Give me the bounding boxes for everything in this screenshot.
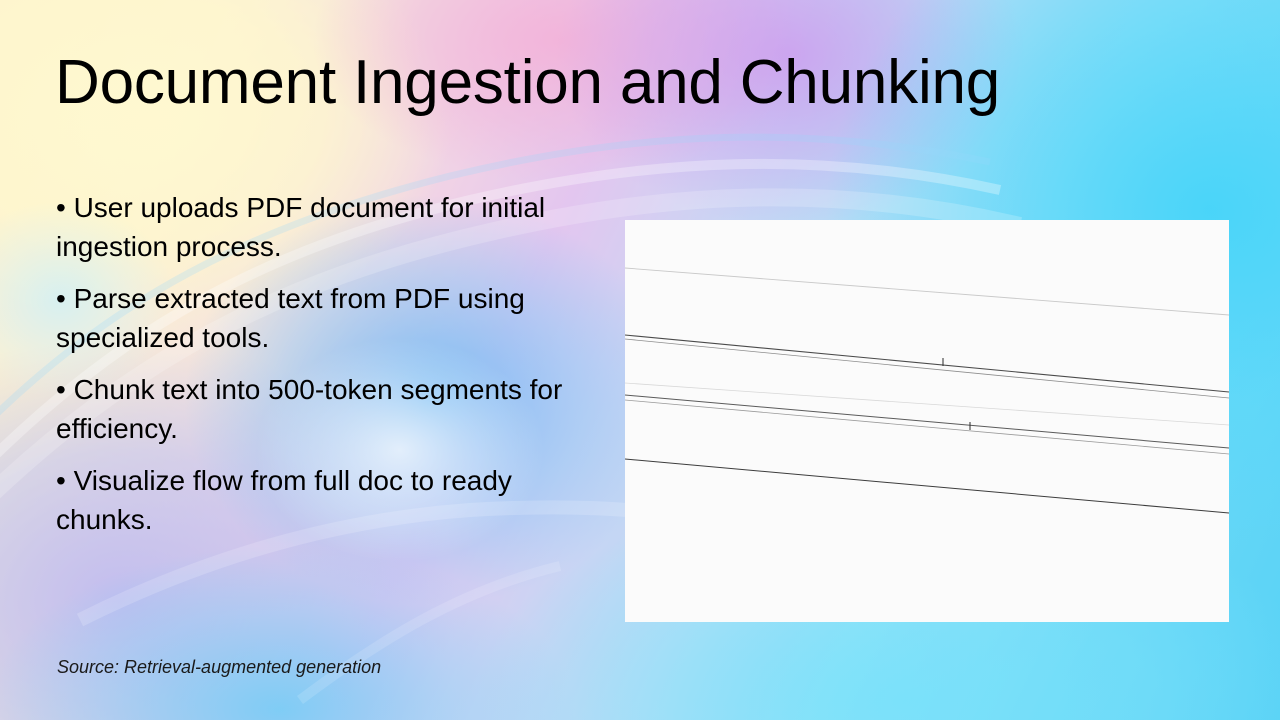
presentation-slide: Document Ingestion and Chunking • User u… (0, 0, 1280, 720)
source-caption: Source: Retrieval-augmented generation (57, 657, 381, 678)
bullet-item-3: • Chunk text into 500-token segments for… (56, 370, 616, 448)
slide-title: Document Ingestion and Chunking (55, 52, 1225, 114)
bullet-item-1: • User uploads PDF document for initial … (56, 188, 616, 266)
slide-body-bullet-list: • User uploads PDF document for initial … (56, 188, 616, 539)
figure-faint-lines (625, 220, 1229, 622)
bullet-item-2: • Parse extracted text from PDF using sp… (56, 279, 616, 357)
bullet-item-4: • Visualize flow from full doc to ready … (56, 461, 616, 539)
figure-image-panel (625, 220, 1229, 622)
